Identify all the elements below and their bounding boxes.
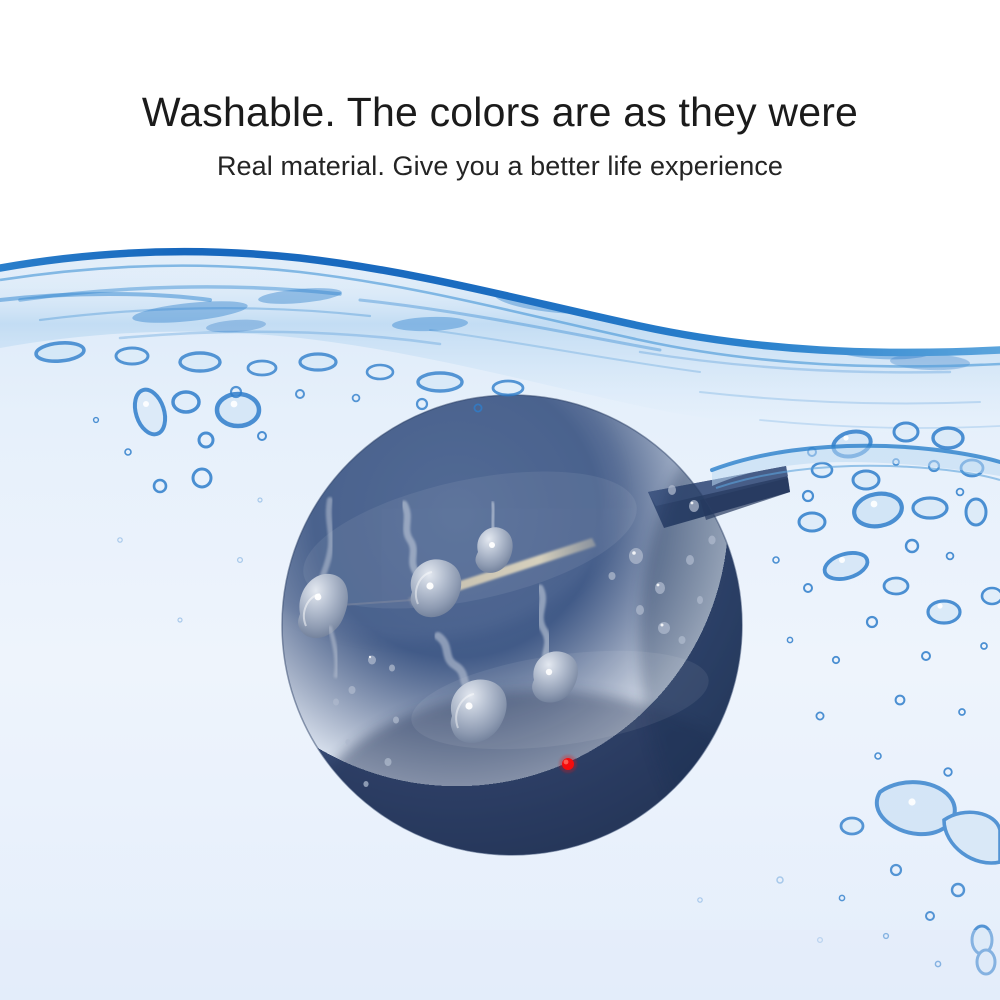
product-marketing-image: Washable. The colors are as they were Re… xyxy=(0,0,1000,1000)
status-led xyxy=(559,755,577,773)
headline-block: Washable. The colors are as they were Re… xyxy=(0,0,1000,183)
page-subtitle: Real material. Give you a better life ex… xyxy=(0,136,1000,182)
page-title: Washable. The colors are as they were xyxy=(0,0,1000,136)
